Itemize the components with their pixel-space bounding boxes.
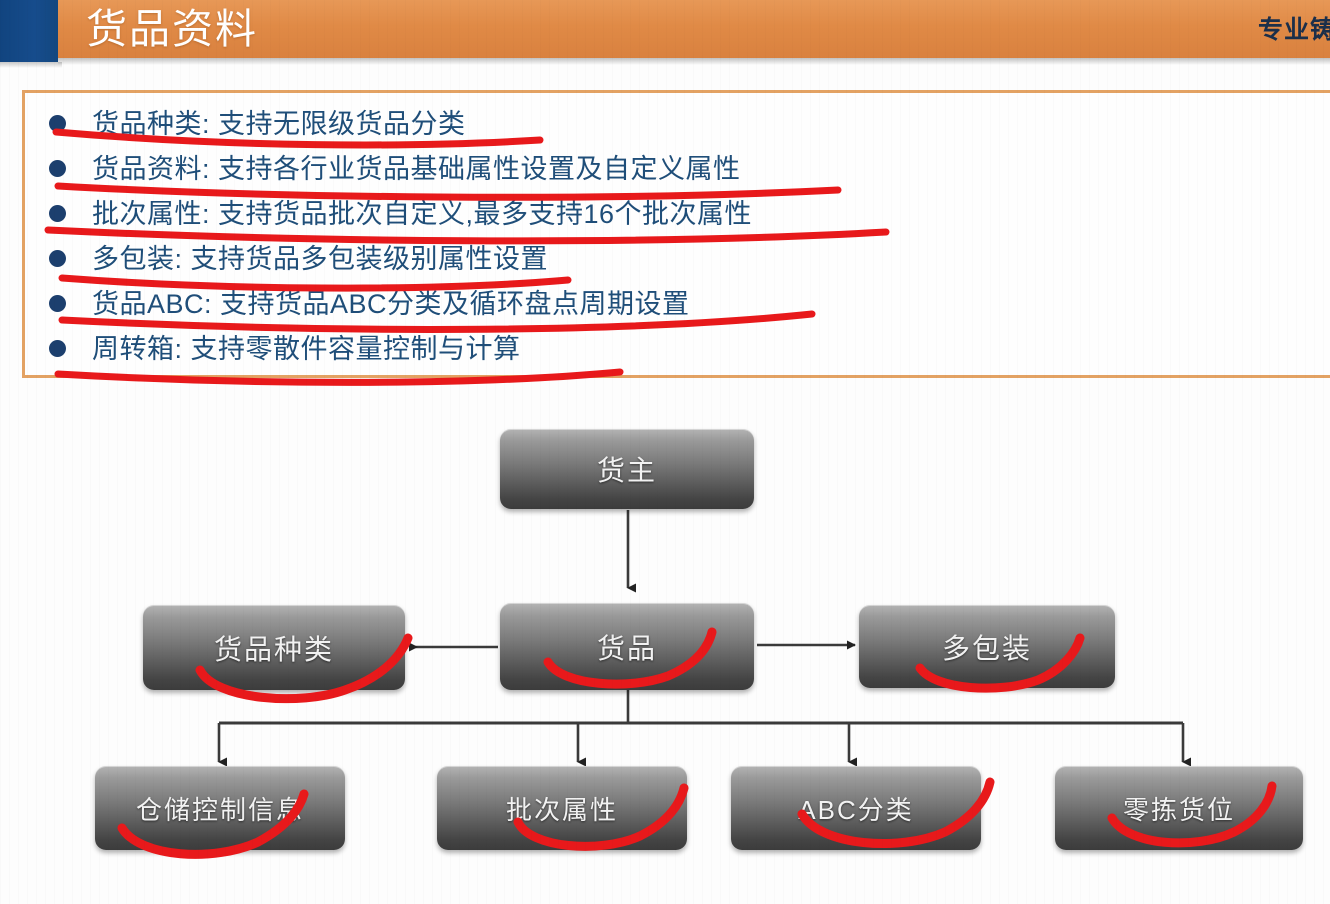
node-goods-category[interactable]: 货品种类	[143, 605, 405, 690]
list-item-text: 货品种类: 支持无限级货品分类	[92, 107, 466, 141]
node-goods[interactable]: 货品	[500, 603, 754, 690]
list-item-text: 货品ABC: 支持货品ABC分类及循环盘点周期设置	[92, 287, 690, 321]
list-item: 货品资料: 支持各行业货品基础属性设置及自定义属性	[35, 146, 1325, 191]
node-abc-classification-label: ABC分类	[798, 790, 913, 827]
node-batch-attribute[interactable]: 批次属性	[437, 766, 687, 850]
list-item-text: 批次属性: 支持货品批次自定义,最多支持16个批次属性	[92, 197, 752, 231]
list-item: 批次属性: 支持货品批次自定义,最多支持16个批次属性	[35, 191, 1325, 236]
header-blue-block	[0, 0, 58, 62]
bullet-dot-icon	[49, 340, 66, 357]
node-multi-packaging-label: 多包装	[942, 627, 1032, 667]
bullet-dot-icon	[49, 160, 66, 177]
node-goods-category-label: 货品种类	[214, 628, 334, 668]
bullet-dot-icon	[49, 250, 66, 267]
bullet-dot-icon	[49, 205, 66, 222]
node-abc-classification[interactable]: ABC分类	[731, 766, 981, 850]
list-item: 货品种类: 支持无限级货品分类	[35, 101, 1325, 146]
list-item-text: 货品资料: 支持各行业货品基础属性设置及自定义属性	[92, 152, 741, 186]
list-item-text: 多包装: 支持货品多包装级别属性设置	[92, 242, 548, 276]
feature-list-card: 货品种类: 支持无限级货品分类 货品资料: 支持各行业货品基础属性设置及自定义属…	[22, 90, 1330, 378]
slide-header: 货品资料 专业铸	[0, 0, 1330, 62]
node-storage-control-info[interactable]: 仓储控制信息	[95, 766, 345, 850]
node-multi-packaging[interactable]: 多包装	[859, 605, 1115, 688]
header-blue-block-shadow	[0, 62, 62, 68]
node-picking-location-label: 零拣货位	[1123, 790, 1235, 827]
list-item: 多包装: 支持货品多包装级别属性设置	[35, 236, 1325, 281]
page-title: 货品资料	[86, 2, 258, 56]
bullet-dot-icon	[49, 115, 66, 132]
list-item: 周转箱: 支持零散件容量控制与计算	[35, 326, 1325, 371]
node-root[interactable]: 货主	[500, 429, 754, 509]
node-root-label: 货主	[597, 449, 657, 489]
node-goods-label: 货品	[597, 627, 657, 667]
feature-list: 货品种类: 支持无限级货品分类 货品资料: 支持各行业货品基础属性设置及自定义属…	[35, 101, 1325, 371]
node-picking-location[interactable]: 零拣货位	[1055, 766, 1303, 850]
bullet-dot-icon	[49, 295, 66, 312]
list-item: 货品ABC: 支持货品ABC分类及循环盘点周期设置	[35, 281, 1325, 326]
node-batch-attribute-label: 批次属性	[506, 790, 618, 827]
list-item-text: 周转箱: 支持零散件容量控制与计算	[92, 332, 521, 366]
header-right-text: 专业铸	[1258, 14, 1330, 46]
header-banner-shadow	[58, 58, 1330, 65]
node-storage-control-info-label: 仓储控制信息	[136, 790, 304, 827]
hierarchy-diagram: 货主 货品种类 货品 多包装 仓储控制信息 批次属性 ABC分类 零拣货位	[0, 390, 1330, 904]
